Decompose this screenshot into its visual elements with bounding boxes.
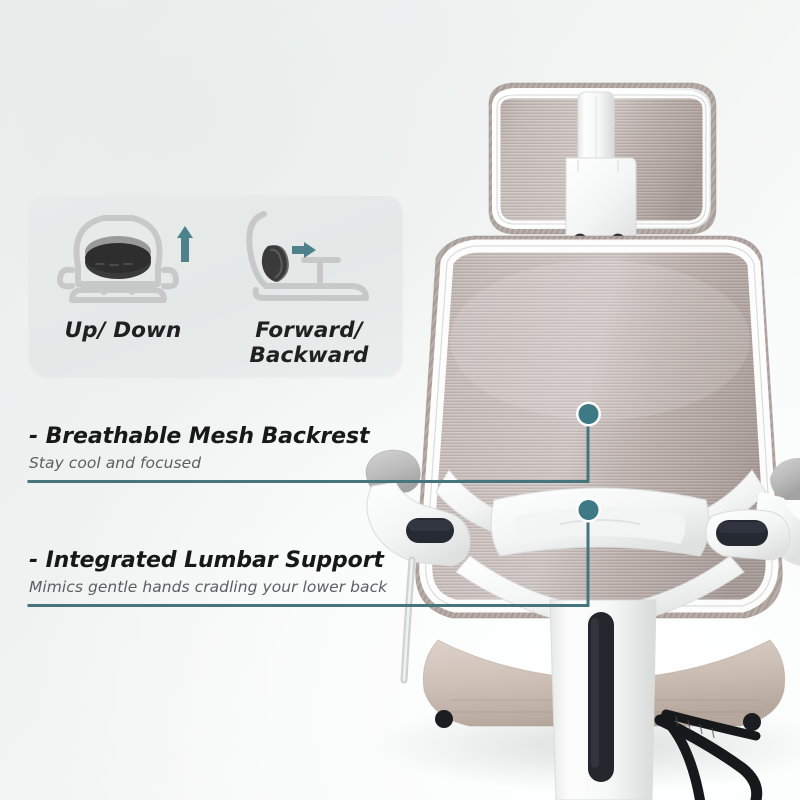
adjustment-label-forward-backward: Forward/ Backward bbox=[216, 318, 402, 368]
chair-front-lumbar-icon bbox=[48, 204, 198, 312]
arrow-right-icon bbox=[292, 242, 316, 258]
adjustment-item-forward-backward bbox=[216, 202, 402, 314]
callout-subtitle-mesh: Stay cool and focused bbox=[29, 454, 369, 472]
adjustment-item-up-down bbox=[30, 202, 216, 314]
callout-subtitle-lumbar: Mimics gentle hands cradling your lower … bbox=[29, 578, 387, 596]
callout-title-mesh: - Breathable Mesh Backrest bbox=[29, 424, 369, 449]
chair-side-lumbar-icon bbox=[230, 204, 388, 312]
caster-left bbox=[435, 710, 453, 728]
product-photo-chair bbox=[0, 0, 800, 800]
arrow-up-icon bbox=[177, 226, 193, 262]
infographic-canvas: Up/ Down Forward/ Backward - Breathable … bbox=[0, 0, 800, 800]
callout-title-lumbar: - Integrated Lumbar Support bbox=[29, 548, 387, 573]
caster-right bbox=[743, 713, 761, 731]
callout-lumbar-support: - Integrated Lumbar Support Mimics gentl… bbox=[29, 548, 387, 596]
gas-lift-column bbox=[550, 600, 656, 800]
callout-mesh-backrest: - Breathable Mesh Backrest Stay cool and… bbox=[29, 424, 369, 472]
adjustment-card: Up/ Down Forward/ Backward bbox=[30, 196, 402, 376]
adjustment-label-up-down: Up/ Down bbox=[30, 318, 216, 368]
